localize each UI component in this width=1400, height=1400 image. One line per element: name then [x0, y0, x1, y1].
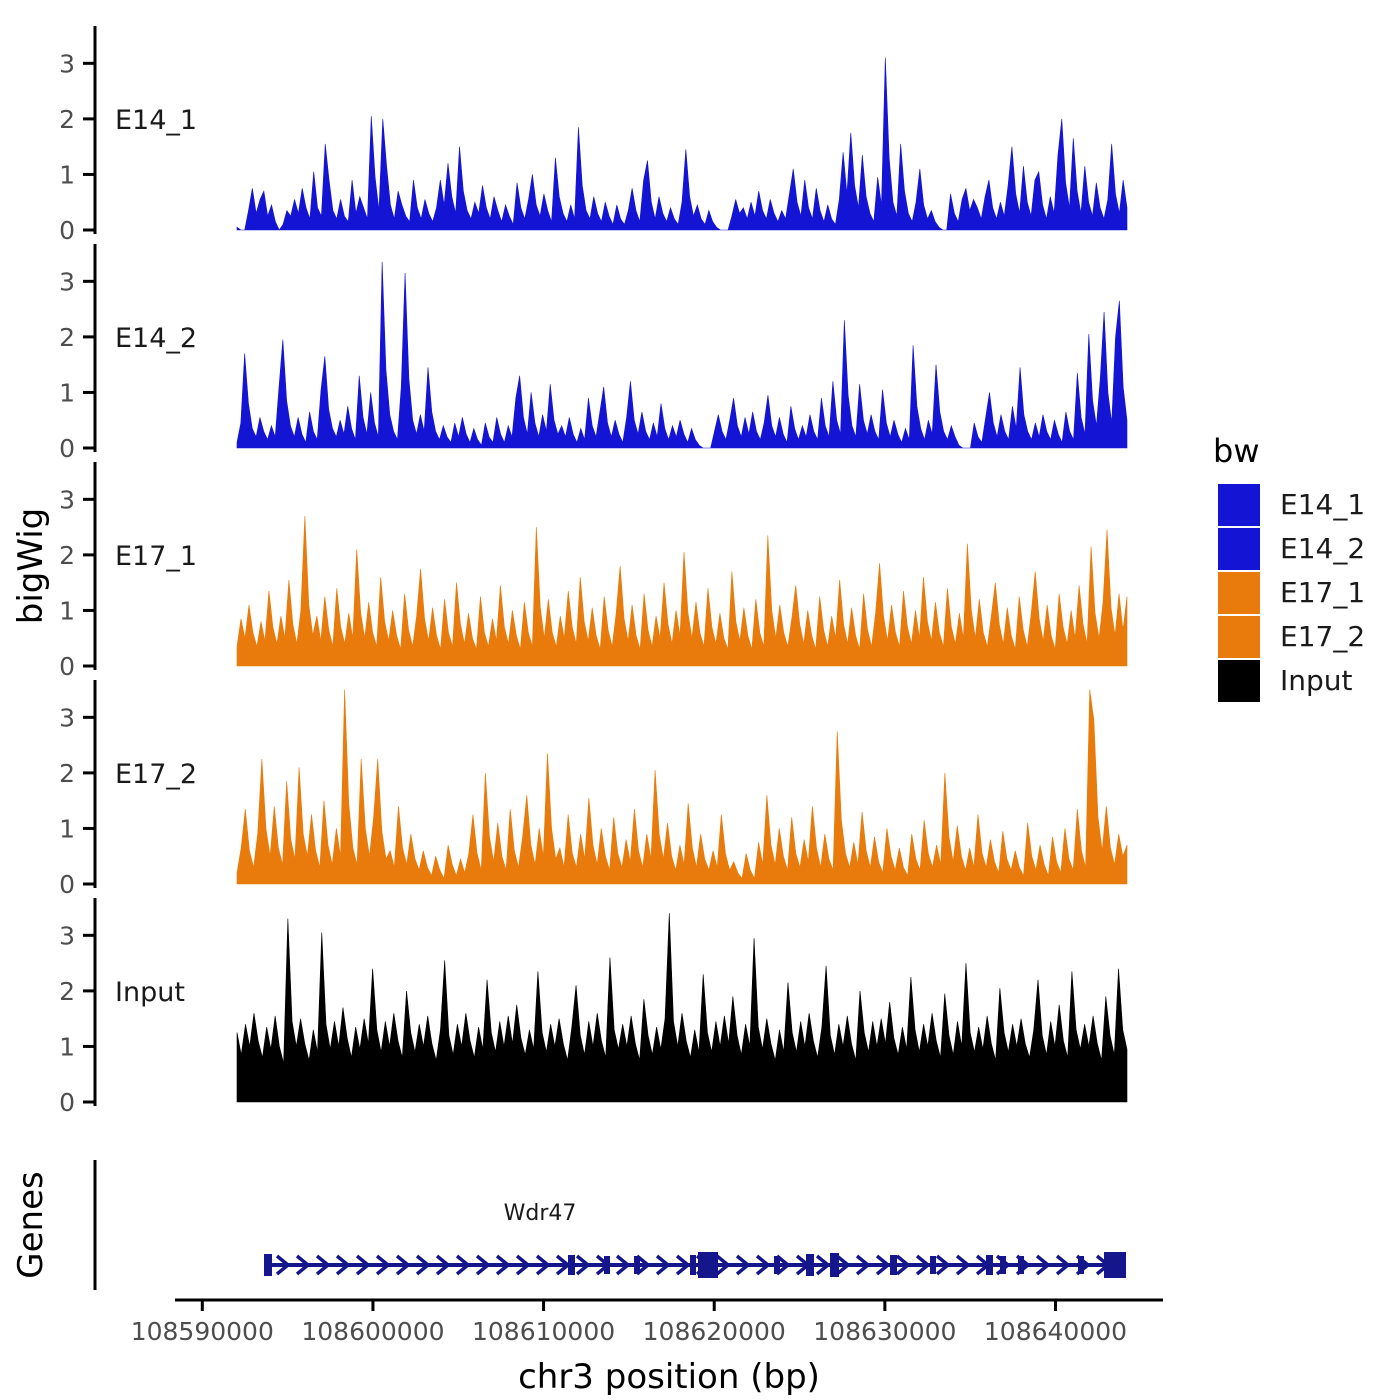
legend-label-e17_2[interactable]: E17_2	[1280, 620, 1365, 653]
legend-swatch-e17_1	[1218, 572, 1260, 614]
x-tick-label: 108600000	[301, 1317, 444, 1346]
legend-label-e17_1[interactable]: E17_1	[1280, 576, 1365, 609]
track-label-e14_2: E14_2	[115, 323, 197, 354]
x-tick-label: 108630000	[813, 1317, 956, 1346]
y-tick-label: 0	[59, 1088, 75, 1117]
x-axis-title: chr3 position (bp)	[518, 1357, 820, 1397]
legend-title: bw	[1213, 432, 1259, 470]
track-label-e17_2: E17_2	[115, 759, 197, 790]
gene-name-label: Wdr47	[504, 1201, 577, 1226]
track-area-e14_1	[237, 58, 1127, 230]
legend-label-input[interactable]: Input	[1280, 664, 1353, 697]
gene-exon	[930, 1256, 936, 1274]
track-label-e17_1: E17_1	[115, 541, 197, 572]
track-panel-e17_2: 0123E17_2	[59, 680, 1127, 899]
legend-label-e14_2[interactable]: E14_2	[1280, 532, 1365, 565]
track-label-input: Input	[115, 977, 185, 1008]
genome-browser-figure: 0123E14_10123E14_20123E17_10123E17_20123…	[0, 0, 1400, 1400]
y-tick-label: 3	[59, 267, 75, 296]
y-tick-label: 2	[59, 759, 75, 788]
track-area-e14_2	[237, 262, 1127, 448]
legend-swatch-input	[1218, 660, 1260, 702]
y-tick-label: 3	[59, 921, 75, 950]
y-tick-label: 1	[59, 160, 75, 189]
y-tick-label: 1	[59, 378, 75, 407]
track-panel-e14_2: 0123E14_2	[59, 244, 1127, 463]
y-tick-label: 0	[59, 870, 75, 899]
track-label-e14_1: E14_1	[115, 105, 197, 136]
y-tick-label: 1	[59, 1032, 75, 1061]
gene-exon	[690, 1255, 696, 1275]
gene-exon	[264, 1254, 272, 1276]
genes-axis-title: Genes	[11, 1171, 51, 1278]
track-area-e17_1	[237, 516, 1127, 666]
figure-root: 0123E14_10123E14_20123E17_10123E17_20123…	[0, 0, 1400, 1400]
y-tick-label: 3	[59, 49, 75, 78]
legend-swatch-e14_1	[1218, 484, 1260, 526]
y-tick-label: 3	[59, 703, 75, 732]
y-tick-label: 0	[59, 652, 75, 681]
genes-panel: Wdr47	[95, 1160, 1126, 1290]
gene-exon	[890, 1255, 897, 1275]
y-tick-label: 2	[59, 105, 75, 134]
legend-label-e14_1[interactable]: E14_1	[1280, 488, 1365, 521]
y-tick-label: 2	[59, 541, 75, 570]
y-tick-label: 1	[59, 596, 75, 625]
track-area-e17_2	[237, 690, 1127, 884]
track-panel-e14_1: 0123E14_1	[59, 26, 1127, 245]
legend-swatch-e14_2	[1218, 528, 1260, 570]
y-tick-label: 3	[59, 485, 75, 514]
x-tick-label: 108610000	[472, 1317, 615, 1346]
x-tick-label: 108620000	[643, 1317, 786, 1346]
y-tick-label: 1	[59, 814, 75, 843]
track-panel-input: 0123Input	[59, 898, 1127, 1117]
y-tick-label: 2	[59, 977, 75, 1006]
x-tick-label: 108590000	[131, 1317, 274, 1346]
y-tick-label: 0	[59, 434, 75, 463]
track-area-input	[237, 913, 1127, 1102]
x-tick-label: 108640000	[984, 1317, 1127, 1346]
y-tick-label: 0	[59, 216, 75, 245]
track-panel-e17_1: 0123E17_1	[59, 462, 1127, 681]
y-axis-title: bigWig	[11, 508, 51, 625]
y-tick-label: 2	[59, 323, 75, 352]
legend-swatch-e17_2	[1218, 616, 1260, 658]
